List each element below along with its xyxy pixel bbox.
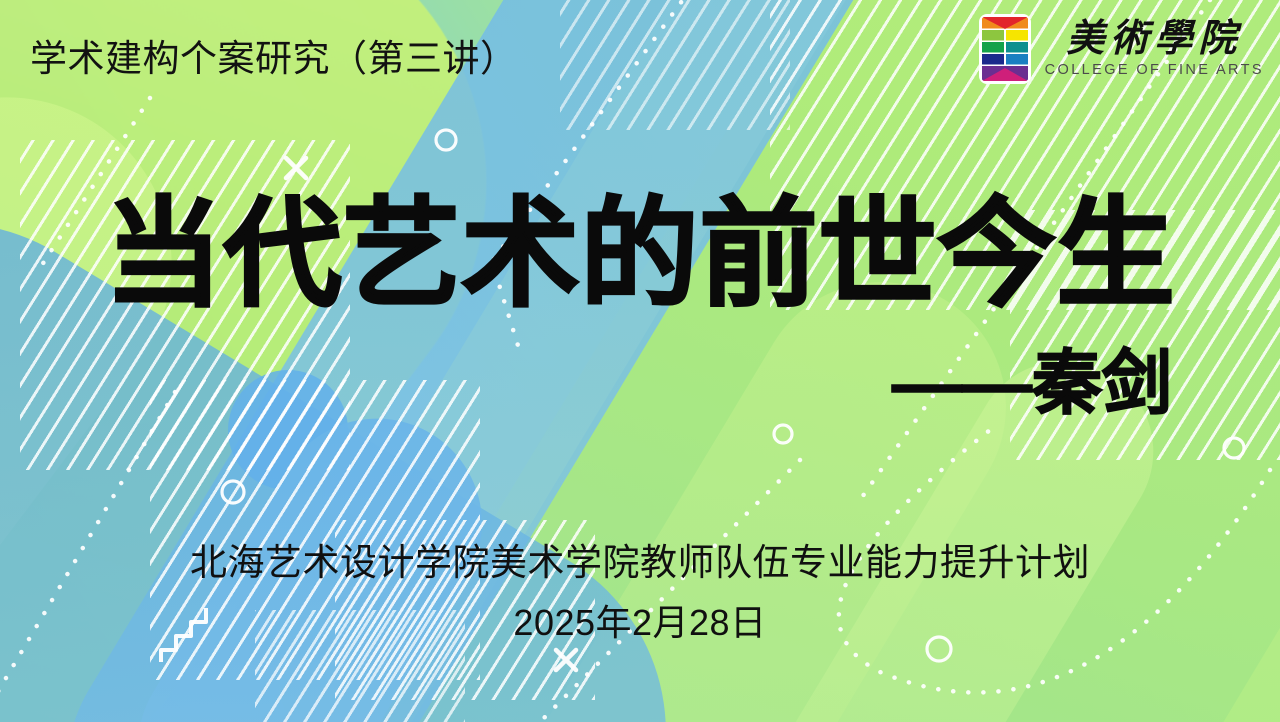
college-name-cn: 美術學院 <box>1066 20 1242 60</box>
slide-content: 学术建构个案研究（第三讲） <box>0 0 1280 722</box>
speaker-byline: ——秦剑 <box>892 348 1172 418</box>
page-title: 当代艺术的前世今生 <box>104 196 1175 314</box>
lecture-series-kicker: 学术建构个案研究（第三讲） <box>30 28 518 82</box>
slide-footer: 北海艺术设计学院美术学院教师队伍专业能力提升计划 2025年2月28日 <box>0 540 1280 646</box>
footer-organization: 北海艺术设计学院美术学院教师队伍专业能力提升计划 <box>0 540 1280 586</box>
footer-date: 2025年2月28日 <box>0 594 1280 646</box>
college-logo-mark-icon <box>979 14 1031 84</box>
college-name-en: COLLEGE OF FINE ARTS <box>1045 62 1264 78</box>
presentation-slide: 学术建构个案研究（第三讲） <box>0 0 1280 722</box>
college-logo-text: 美術學院 COLLEGE OF FINE ARTS <box>1045 20 1264 78</box>
college-logo: 美術學院 COLLEGE OF FINE ARTS <box>979 14 1264 84</box>
